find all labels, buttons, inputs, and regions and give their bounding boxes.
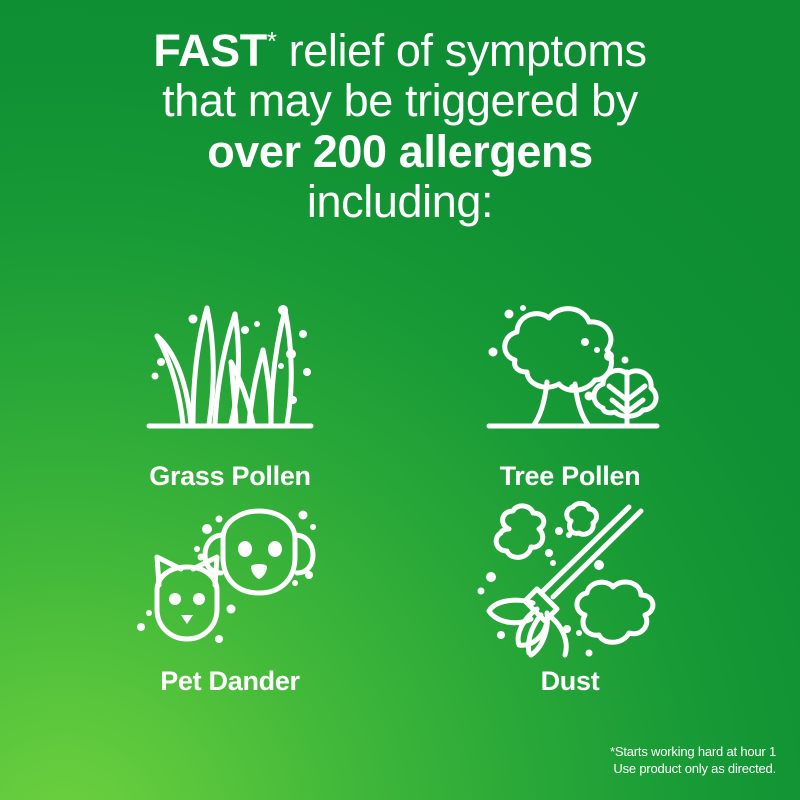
- duster-icon: [475, 505, 665, 660]
- headline-line-1-rest: relief of symptoms: [277, 25, 647, 76]
- allergy-relief-ad: FAST* relief of symptoms that may be tri…: [0, 0, 800, 800]
- pet-icon: [135, 505, 325, 660]
- grass-icon: [135, 300, 325, 455]
- allergen-item-tree-pollen: Tree Pollen: [400, 300, 740, 505]
- headline-line-3: over 200 allergens: [0, 127, 800, 177]
- ad-content: FAST* relief of symptoms that may be tri…: [0, 0, 800, 800]
- headline-line-1: FAST* relief of symptoms: [0, 26, 800, 76]
- headline-block: FAST* relief of symptoms that may be tri…: [0, 26, 800, 228]
- allergen-label-pet-dander: Pet Dander: [160, 666, 300, 697]
- allergen-item-grass-pollen: Grass Pollen: [60, 300, 400, 505]
- footnote-line-1: *Starts working hard at hour 1: [610, 743, 776, 761]
- footnote-line-2: Use product only as directed.: [610, 760, 776, 778]
- allergen-item-pet-dander: Pet Dander: [60, 505, 400, 710]
- asterisk-marker: *: [267, 26, 277, 56]
- headline-line-4: including:: [0, 177, 800, 227]
- allergen-grid: Grass Pollen: [60, 300, 740, 710]
- fast-word: FAST: [153, 25, 266, 76]
- allergen-label-tree-pollen: Tree Pollen: [500, 461, 641, 492]
- tree-icon: [475, 300, 665, 455]
- footnote-block: *Starts working hard at hour 1 Use produ…: [610, 743, 776, 778]
- headline-line-2: that may be triggered by: [0, 76, 800, 126]
- allergen-item-dust: Dust: [400, 505, 740, 710]
- allergen-label-dust: Dust: [541, 666, 600, 697]
- allergen-label-grass-pollen: Grass Pollen: [149, 461, 310, 492]
